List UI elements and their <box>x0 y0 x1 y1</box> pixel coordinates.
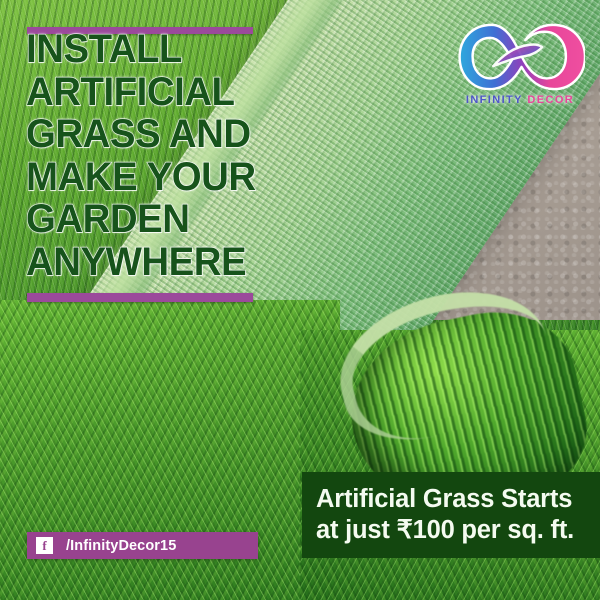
facebook-bar[interactable]: f /InfinityDecor15 <box>27 532 258 559</box>
facebook-handle[interactable]: /InfinityDecor15 <box>66 538 176 554</box>
headline-line-1: INSTALL <box>26 28 276 71</box>
facebook-icon[interactable]: f <box>36 537 53 554</box>
price-banner: Artificial Grass Starts at just ₹100 per… <box>302 472 600 558</box>
headline-line-4: MAKE YOUR <box>26 156 276 199</box>
price-line-2: at just ₹100 per sq. ft. <box>316 515 574 546</box>
headline-line-6: ANYWHERE <box>26 241 276 284</box>
brand-logo[interactable]: INFINITY DECOR <box>455 18 585 118</box>
brand-name-secondary: DECOR <box>527 94 574 106</box>
headline-line-2: ARTIFICIAL <box>26 71 276 114</box>
headline-line-5: GARDEN <box>26 198 276 241</box>
bottom-divider-rule <box>27 293 253 302</box>
headline-line-3: GRASS AND <box>26 113 276 156</box>
advertisement-poster: INSTALL ARTIFICIAL GRASS AND MAKE YOUR G… <box>0 0 600 600</box>
infinity-swirl-icon <box>455 18 585 96</box>
price-banner-text: Artificial Grass Starts at just ₹100 per… <box>302 484 574 546</box>
brand-name-primary: INFINITY <box>466 94 523 106</box>
headline: INSTALL ARTIFICIAL GRASS AND MAKE YOUR G… <box>26 28 286 283</box>
price-line-1: Artificial Grass Starts <box>316 484 574 515</box>
brand-name: INFINITY DECOR <box>455 94 585 106</box>
